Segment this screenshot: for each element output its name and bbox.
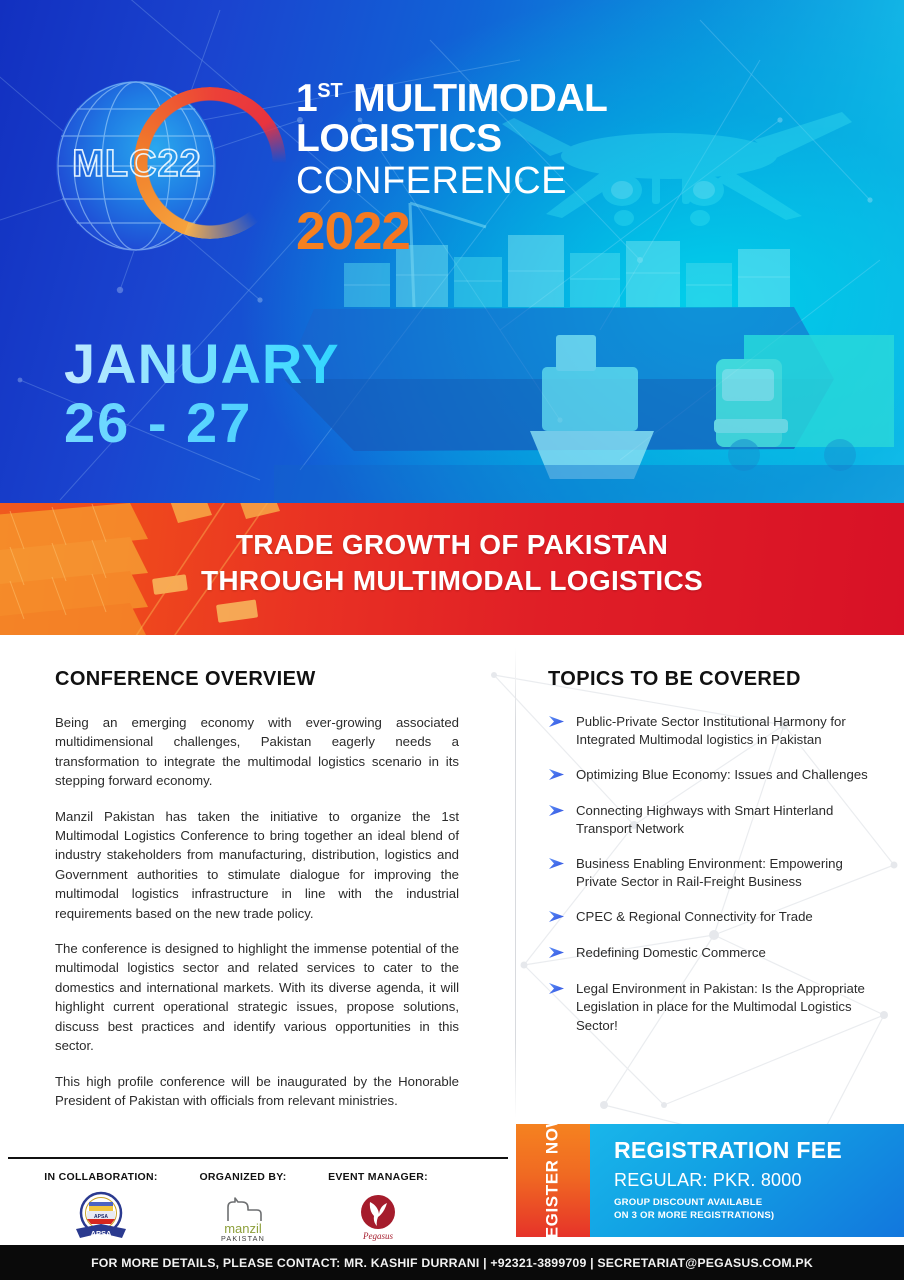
list-item: Public-Private Sector Institutional Harm… <box>548 713 868 750</box>
svg-text:Pegasus: Pegasus <box>362 1231 393 1241</box>
registration-fee-heading: REGISTRATION FEE <box>614 1137 904 1164</box>
banner-line-1: TRADE GROWTH OF PAKISTAN <box>0 527 904 563</box>
apsa-logo-icon: APSA APSA <box>36 1191 166 1243</box>
list-item: Business Enabling Environment: Empowerin… <box>548 855 868 892</box>
arrow-bullet-icon <box>548 910 565 928</box>
logo-text: MLC22 <box>62 143 212 186</box>
manzil-logo-icon: manzil PAKISTAN <box>183 1191 303 1243</box>
event-month: JANUARY <box>64 336 340 392</box>
topic-text: Public-Private Sector Institutional Harm… <box>576 713 868 750</box>
overview-column: CONFERENCE OVERVIEW Being an emerging ec… <box>55 668 459 1110</box>
banner-text: TRADE GROWTH OF PAKISTAN THROUGH MULTIMO… <box>0 527 904 599</box>
registration-note-line-2: ON 3 OR MORE REGISTRATIONS) <box>614 1210 904 1223</box>
pegasus-logo-icon: Pegasus <box>318 1191 438 1243</box>
topic-text: Optimizing Blue Economy: Issues and Chal… <box>576 766 868 784</box>
partner-event-manager: EVENT MANAGER: Pegasus <box>318 1171 438 1243</box>
partner-label: EVENT MANAGER: <box>318 1171 438 1183</box>
registration-note: GROUP DISCOUNT AVAILABLE ON 3 OR MORE RE… <box>614 1197 904 1223</box>
partner-organizer: ORGANIZED BY: manzil PAKISTAN <box>183 1171 303 1243</box>
contact-footer: FOR MORE DETAILS, PLEASE CONTACT: MR. KA… <box>0 1245 904 1280</box>
list-item: Connecting Highways with Smart Hinterlan… <box>548 802 868 839</box>
headline-line-3: CONFERENCE <box>296 160 856 203</box>
topic-text: Redefining Domestic Commerce <box>576 944 766 962</box>
topics-column: TOPICS TO BE COVERED Public-Private Sect… <box>548 668 868 1051</box>
column-divider <box>515 648 516 1118</box>
contact-text: FOR MORE DETAILS, PLEASE CONTACT: MR. KA… <box>91 1256 813 1270</box>
conference-poster: MLC22 1ST MULTIMODAL LOGISTICS CONFERENC… <box>0 0 904 1280</box>
banner-line-2: THROUGH MULTIMODAL LOGISTICS <box>0 563 904 599</box>
list-item: Redefining Domestic Commerce <box>548 944 868 964</box>
topic-text: Connecting Highways with Smart Hinterlan… <box>576 802 868 839</box>
list-item: Optimizing Blue Economy: Issues and Chal… <box>548 766 868 786</box>
svg-text:APSA: APSA <box>94 1214 108 1220</box>
partner-label: ORGANIZED BY: <box>183 1171 303 1183</box>
svg-text:PAKISTAN: PAKISTAN <box>221 1234 265 1243</box>
headline-line-1: 1ST MULTIMODAL <box>296 80 856 118</box>
partner-collaboration: IN COLLABORATION: APSA APSA <box>36 1171 166 1243</box>
register-now-label: REGISTER NOW <box>543 1124 564 1237</box>
list-item: Legal Environment in Pakistan: Is the Ap… <box>548 980 868 1035</box>
partner-label: IN COLLABORATION: <box>36 1171 166 1183</box>
list-item: CPEC & Regional Connectivity for Trade <box>548 908 868 928</box>
topic-text: CPEC & Regional Connectivity for Trade <box>576 908 813 926</box>
overview-heading: CONFERENCE OVERVIEW <box>55 668 459 691</box>
hero-headline: 1ST MULTIMODAL LOGISTICS CONFERENCE 2022 <box>296 80 856 259</box>
arrow-bullet-icon <box>548 857 565 875</box>
overview-paragraph: The conference is designed to highlight … <box>55 939 459 1055</box>
topic-text: Legal Environment in Pakistan: Is the Ap… <box>576 980 868 1035</box>
overview-paragraph: Manzil Pakistan has taken the initiative… <box>55 807 459 923</box>
arrow-bullet-icon <box>548 804 565 822</box>
register-now-tab[interactable]: REGISTER NOW <box>516 1124 590 1237</box>
svg-text:APSA: APSA <box>91 1229 112 1238</box>
registration-note-line-1: GROUP DISCOUNT AVAILABLE <box>614 1197 904 1210</box>
event-logo: MLC22 <box>48 75 298 257</box>
registration-bar[interactable]: REGISTER NOW REGISTRATION FEE REGULAR: P… <box>516 1124 904 1237</box>
topics-list: Public-Private Sector Institutional Harm… <box>548 713 868 1035</box>
partners-divider <box>8 1157 508 1159</box>
theme-banner: TRADE GROWTH OF PAKISTAN THROUGH MULTIMO… <box>0 503 904 635</box>
overview-paragraph: Being an emerging economy with ever-grow… <box>55 713 459 791</box>
overview-paragraph: This high profile conference will be ina… <box>55 1072 459 1111</box>
arrow-bullet-icon <box>548 715 565 733</box>
event-dates: JANUARY 26 - 27 <box>64 336 340 453</box>
headline-line-2: LOGISTICS <box>296 118 856 160</box>
registration-price: REGULAR: PKR. 8000 <box>614 1170 904 1191</box>
registration-fee-panel: REGISTRATION FEE REGULAR: PKR. 8000 GROU… <box>590 1124 904 1237</box>
hero-section: MLC22 1ST MULTIMODAL LOGISTICS CONFERENC… <box>0 0 904 503</box>
arrow-bullet-icon <box>548 982 565 1000</box>
topic-text: Business Enabling Environment: Empowerin… <box>576 855 868 892</box>
event-days: 26 - 27 <box>64 394 340 453</box>
topics-heading: TOPICS TO BE COVERED <box>548 668 868 691</box>
arrow-bullet-icon <box>548 946 565 964</box>
partners-section: IN COLLABORATION: APSA APSA ORGANIZED BY… <box>0 1157 516 1245</box>
arrow-bullet-icon <box>548 768 565 786</box>
headline-year: 2022 <box>296 205 856 259</box>
